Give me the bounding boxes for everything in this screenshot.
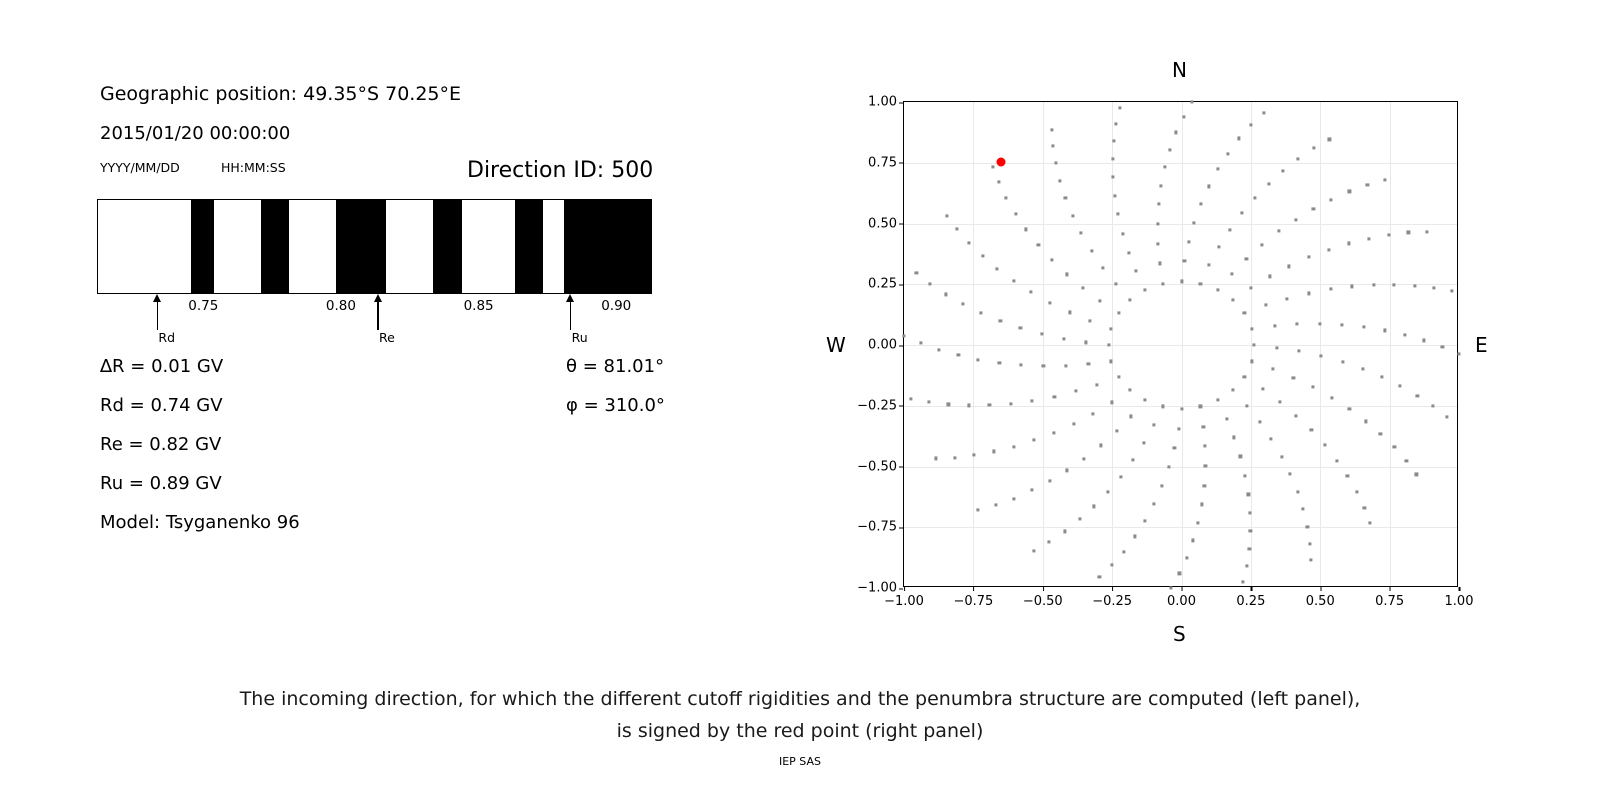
- direction-point: [1258, 421, 1261, 424]
- direction-point: [1350, 285, 1353, 288]
- direction-point: [1308, 256, 1311, 259]
- direction-point: [903, 334, 906, 337]
- direction-point: [1276, 346, 1279, 349]
- direction-point: [1080, 232, 1083, 235]
- direction-point: [1111, 157, 1114, 160]
- direction-point: [1261, 243, 1264, 246]
- direction-point: [1128, 388, 1131, 391]
- direction-point: [967, 404, 970, 407]
- direction-point: [1204, 445, 1207, 448]
- direction-point: [1273, 324, 1276, 327]
- direction-point: [1249, 123, 1252, 126]
- direction-point: [967, 241, 970, 244]
- sky-map-panel: 1.000.750.500.250.00−0.25−0.50−0.75−1.00…: [800, 0, 1600, 660]
- footer-credit: IEP SAS: [0, 755, 1600, 768]
- direction-point: [1187, 240, 1190, 243]
- direction-point: [1311, 386, 1314, 389]
- direction-point: [1379, 432, 1382, 435]
- direction-point: [1253, 343, 1256, 346]
- direction-point: [1163, 165, 1166, 168]
- direction-point: [1009, 402, 1012, 405]
- direction-point: [1081, 286, 1084, 289]
- direction-point: [1135, 270, 1138, 273]
- delta-r-readout: ∆R = 0.01 GV: [100, 356, 223, 377]
- direction-point: [947, 403, 950, 406]
- date-format-hint: YYYY/MM/DD: [100, 160, 180, 175]
- direction-point: [1285, 297, 1288, 300]
- direction-point: [998, 361, 1001, 364]
- direction-point: [919, 342, 922, 345]
- direction-point: [1107, 490, 1110, 493]
- direction-point: [1048, 301, 1051, 304]
- direction-point: [1231, 388, 1234, 391]
- direction-point: [1204, 464, 1207, 467]
- direction-point: [957, 354, 960, 357]
- rigidity-marker-label: Rd: [147, 330, 187, 345]
- x-tick-label: 0.00: [1167, 594, 1196, 609]
- direction-point: [1363, 506, 1366, 509]
- direction-point: [1071, 214, 1074, 217]
- direction-point: [1335, 459, 1338, 462]
- direction-point: [1270, 438, 1273, 441]
- direction-point: [1307, 292, 1310, 295]
- y-tick-label: 1.00: [868, 95, 897, 110]
- direction-point: [1241, 580, 1244, 583]
- geographic-position-label: Geographic position: 49.35°S 70.25°E: [100, 83, 461, 105]
- direction-point: [1217, 245, 1220, 248]
- direction-point: [1042, 364, 1045, 367]
- direction-point: [1032, 549, 1035, 552]
- direction-point: [1053, 395, 1056, 398]
- direction-point: [1130, 415, 1133, 418]
- direction-point: [1110, 564, 1113, 567]
- direction-point: [1040, 332, 1043, 335]
- direction-point: [1253, 196, 1256, 199]
- x-tick-label: −1.00: [884, 594, 924, 609]
- direction-point: [1019, 326, 1022, 329]
- direction-point: [934, 457, 937, 460]
- direction-point: [1178, 572, 1181, 575]
- direction-point: [1115, 430, 1118, 433]
- direction-point: [1175, 131, 1178, 134]
- direction-point: [1328, 138, 1331, 141]
- direction-point: [1327, 248, 1330, 251]
- direction-point: [1048, 540, 1051, 543]
- direction-point: [1005, 196, 1008, 199]
- direction-point: [1383, 329, 1386, 332]
- direction-point: [1030, 489, 1033, 492]
- direction-point: [999, 319, 1002, 322]
- direction-point: [1289, 472, 1292, 475]
- y-tick-label: −0.25: [857, 398, 897, 413]
- direction-point: [1381, 375, 1384, 378]
- x-tick-label: 1.00: [1445, 594, 1474, 609]
- direction-point: [1272, 368, 1275, 371]
- direction-point: [1159, 184, 1162, 187]
- direction-point: [1117, 312, 1120, 315]
- penumbra-band-forbidden: [191, 200, 214, 293]
- y-tick-label: 0.25: [868, 277, 897, 292]
- direction-point: [1153, 502, 1156, 505]
- direction-point: [1065, 273, 1068, 276]
- direction-point: [1296, 490, 1299, 493]
- direction-point: [1392, 283, 1395, 286]
- y-tick-label: 0.00: [868, 338, 897, 353]
- direction-point: [1113, 194, 1116, 197]
- penumbra-band-forbidden: [564, 200, 652, 293]
- direction-point: [1250, 360, 1253, 363]
- direction-point: [1261, 387, 1264, 390]
- direction-point: [992, 450, 995, 453]
- direction-point: [1239, 455, 1242, 458]
- compass-south-label: S: [1173, 622, 1186, 646]
- y-tick-label: 0.50: [868, 216, 897, 231]
- direction-point: [1012, 279, 1015, 282]
- direction-point: [1262, 111, 1265, 114]
- direction-point: [1082, 457, 1085, 460]
- direction-point: [1277, 230, 1280, 233]
- direction-point: [1441, 345, 1444, 348]
- direction-point: [1093, 505, 1096, 508]
- direction-point: [1393, 446, 1396, 449]
- direction-point: [1169, 586, 1172, 589]
- rigidity-axis: RdReRu0.750.800.850.90: [97, 294, 652, 354]
- arrow-head-icon: [566, 294, 574, 302]
- caption-line-2: is signed by the red point (right panel): [0, 715, 1600, 747]
- direction-point: [1249, 512, 1252, 515]
- penumbra-band-forbidden: [336, 200, 387, 293]
- direction-point: [1292, 376, 1295, 379]
- direction-point: [1319, 354, 1322, 357]
- direction-point: [1114, 122, 1117, 125]
- direction-point: [1405, 459, 1408, 462]
- x-tick-label: 0.75: [1375, 594, 1404, 609]
- direction-point: [1416, 394, 1419, 397]
- direction-point: [1246, 404, 1249, 407]
- direction-point: [1193, 221, 1196, 224]
- arrow-head-icon: [153, 294, 161, 302]
- direction-point: [981, 255, 984, 258]
- direction-point: [1033, 439, 1036, 442]
- direction-point: [1228, 228, 1231, 231]
- direction-point: [1250, 286, 1253, 289]
- direction-point: [1264, 304, 1267, 307]
- model-readout: Model: Tsyganenko 96: [100, 512, 300, 533]
- direction-point: [1112, 139, 1115, 142]
- direction-point: [1157, 203, 1160, 206]
- direction-point: [1199, 405, 1202, 408]
- direction-point: [1088, 319, 1091, 322]
- direction-point: [1161, 282, 1164, 285]
- direction-point: [1074, 390, 1077, 393]
- direction-point: [1031, 399, 1034, 402]
- direction-point: [1119, 475, 1122, 478]
- rigidity-tick-label: 0.85: [464, 298, 494, 314]
- direction-point: [1431, 404, 1434, 407]
- direction-point: [1450, 290, 1453, 293]
- direction-point: [1383, 178, 1386, 181]
- direction-point: [1247, 493, 1250, 496]
- direction-point: [1243, 312, 1246, 315]
- arrow-up-icon: [570, 300, 572, 330]
- y-tick-label: 0.75: [868, 155, 897, 170]
- direction-point: [1207, 263, 1210, 266]
- rigidity-marker-label: Re: [367, 330, 407, 345]
- direction-point: [1037, 243, 1040, 246]
- x-tick-label: 0.50: [1306, 594, 1335, 609]
- direction-point: [1117, 375, 1120, 378]
- direction-point: [1072, 422, 1075, 425]
- direction-point: [1173, 446, 1176, 449]
- direction-point: [1230, 272, 1233, 275]
- direction-point: [1197, 521, 1200, 524]
- direction-point: [1355, 490, 1358, 493]
- direction-point: [1323, 443, 1326, 446]
- direction-point: [1348, 190, 1351, 193]
- direction-point: [1191, 101, 1194, 104]
- compass-north-label: N: [1172, 58, 1187, 82]
- direction-point: [1014, 212, 1017, 215]
- penumbra-panel: Geographic position: 49.35°S 70.25°E 201…: [0, 0, 800, 660]
- direction-point: [1152, 424, 1155, 427]
- direction-point: [1318, 322, 1321, 325]
- direction-point: [1240, 211, 1243, 214]
- direction-point: [1084, 341, 1087, 344]
- direction-point: [944, 293, 947, 296]
- direction-point: [1250, 327, 1253, 330]
- direction-point: [1267, 182, 1270, 185]
- sky-plot-area[interactable]: 1.000.750.500.250.00−0.25−0.50−0.75−1.00…: [903, 101, 1458, 587]
- direction-point: [1058, 179, 1061, 182]
- direction-point: [1294, 218, 1297, 221]
- x-tick-label: −0.25: [1092, 594, 1132, 609]
- penumbra-spectrum-bar: [97, 199, 652, 294]
- y-tick-label: −0.50: [857, 459, 897, 474]
- direction-point: [1245, 565, 1248, 568]
- direction-point: [1297, 157, 1300, 160]
- direction-point: [909, 397, 912, 400]
- direction-point: [1099, 444, 1102, 447]
- direction-point: [1295, 323, 1298, 326]
- direction-point: [1407, 231, 1410, 234]
- direction-point: [1051, 145, 1054, 148]
- direction-point: [1132, 459, 1135, 462]
- direction-point: [1387, 233, 1390, 236]
- phi-readout: φ = 310.0°: [566, 395, 665, 416]
- compass-west-label: W: [826, 333, 846, 357]
- direction-point: [1199, 282, 1202, 285]
- direction-point: [1064, 364, 1067, 367]
- re-readout: Re = 0.82 GV: [100, 434, 221, 455]
- direction-point: [1161, 405, 1164, 408]
- direction-point: [1348, 408, 1351, 411]
- direction-point: [1231, 298, 1234, 301]
- direction-point: [972, 454, 975, 457]
- time-format-hint: HH:MM:SS: [221, 160, 286, 175]
- direction-point: [1341, 323, 1344, 326]
- direction-point: [1128, 298, 1131, 301]
- direction-point: [1121, 232, 1124, 235]
- direction-point: [1372, 283, 1375, 286]
- datetime-value: 2015/01/20 00:00:00: [100, 123, 290, 144]
- direction-point: [1012, 445, 1015, 448]
- direction-point: [1280, 455, 1283, 458]
- direction-point: [1368, 522, 1371, 525]
- direction-point: [953, 456, 956, 459]
- direction-point: [979, 311, 982, 314]
- direction-point: [1122, 550, 1125, 553]
- direction-point: [1048, 480, 1051, 483]
- direction-point: [929, 282, 932, 285]
- direction-point: [1156, 222, 1159, 225]
- direction-point: [1310, 429, 1313, 432]
- direction-point: [1331, 396, 1334, 399]
- theta-readout: θ = 81.01°: [566, 356, 664, 377]
- direction-point: [1183, 260, 1186, 263]
- direction-point: [1133, 535, 1136, 538]
- ru-readout: Ru = 0.89 GV: [100, 473, 222, 494]
- rigidity-marker-label: Ru: [560, 330, 600, 345]
- direction-point: [1098, 299, 1101, 302]
- direction-point: [1064, 197, 1067, 200]
- direction-point: [961, 303, 964, 306]
- direction-point: [1288, 265, 1291, 268]
- direction-point: [1268, 275, 1271, 278]
- direction-point: [1160, 485, 1163, 488]
- direction-point: [1143, 519, 1146, 522]
- direction-point: [1068, 311, 1071, 314]
- direction-point: [1180, 280, 1183, 283]
- direction-point: [1012, 497, 1015, 500]
- direction-point: [1413, 284, 1416, 287]
- direction-point: [1024, 228, 1027, 231]
- direction-point: [1110, 401, 1113, 404]
- direction-point: [1111, 175, 1114, 178]
- direction-point: [1050, 258, 1053, 261]
- arrow-head-icon: [374, 294, 382, 302]
- direction-point: [1102, 266, 1105, 269]
- direction-point: [996, 267, 999, 270]
- direction-point: [927, 401, 930, 404]
- direction-point: [1063, 530, 1066, 533]
- direction-point: [1329, 198, 1332, 201]
- direction-point: [997, 181, 1000, 184]
- direction-point: [915, 272, 918, 275]
- direction-point: [1341, 360, 1344, 363]
- direction-point: [1156, 242, 1159, 245]
- direction-point: [1180, 407, 1183, 410]
- direction-point: [1415, 473, 1418, 476]
- direction-point: [1062, 337, 1065, 340]
- direction-point: [1207, 185, 1210, 188]
- direction-point: [1114, 282, 1117, 285]
- x-tick-label: −0.50: [1023, 594, 1063, 609]
- direction-point: [1245, 257, 1248, 260]
- direction-point: [991, 165, 994, 168]
- direction-point: [1244, 474, 1247, 477]
- penumbra-band-forbidden: [515, 200, 543, 293]
- direction-point: [1294, 414, 1297, 417]
- arrow-up-icon: [157, 300, 159, 330]
- direction-point: [1167, 466, 1170, 469]
- direction-point: [1199, 202, 1202, 205]
- direction-point: [1243, 375, 1246, 378]
- direction-point: [945, 214, 948, 217]
- penumbra-band-forbidden: [433, 200, 462, 293]
- direction-point: [1054, 162, 1057, 165]
- direction-point: [1306, 525, 1309, 528]
- direction-point: [1098, 576, 1101, 579]
- direction-point: [1107, 343, 1110, 346]
- direction-point: [1329, 288, 1332, 291]
- direction-point: [1191, 539, 1194, 542]
- direction-point: [1361, 367, 1364, 370]
- direction-point: [1457, 353, 1460, 356]
- direction-point: [1216, 168, 1219, 171]
- direction-point: [1087, 363, 1090, 366]
- direction-point: [976, 509, 979, 512]
- direction-point: [1052, 431, 1055, 434]
- direction-point: [1398, 384, 1401, 387]
- direction-point: [1203, 484, 1206, 487]
- direction-point: [1308, 542, 1311, 545]
- direction-point: [1432, 286, 1435, 289]
- direction-point: [1346, 474, 1349, 477]
- direction-point: [1238, 137, 1241, 140]
- y-tick-label: −0.75: [857, 520, 897, 535]
- caption-line-1: The incoming direction, for which the di…: [0, 683, 1600, 715]
- rigidity-tick-label: 0.90: [601, 298, 631, 314]
- direction-point: [1278, 400, 1281, 403]
- rd-readout: Rd = 0.74 GV: [100, 395, 223, 416]
- direction-point: [1144, 399, 1147, 402]
- direction-point: [1116, 213, 1119, 216]
- direction-point: [1403, 333, 1406, 336]
- direction-point: [1348, 242, 1351, 245]
- direction-point: [1366, 183, 1369, 186]
- direction-point: [1143, 441, 1146, 444]
- direction-point: [1090, 249, 1093, 252]
- direction-point: [1281, 169, 1284, 172]
- selected-direction-point[interactable]: [997, 158, 1006, 167]
- direction-point: [1110, 360, 1113, 363]
- direction-point: [1309, 558, 1312, 561]
- direction-point: [1362, 326, 1365, 329]
- direction-point: [1233, 436, 1236, 439]
- rigidity-tick-label: 0.80: [326, 298, 356, 314]
- direction-point: [1096, 383, 1099, 386]
- arrow-up-icon: [377, 300, 379, 330]
- compass-east-label: E: [1475, 333, 1488, 357]
- direction-point: [1298, 350, 1301, 353]
- direction-point: [1029, 290, 1032, 293]
- direction-point: [1312, 207, 1315, 210]
- direction-id-label: Direction ID: 500: [467, 158, 653, 183]
- direction-point: [1092, 412, 1095, 415]
- direction-point: [1364, 420, 1367, 423]
- direction-point: [977, 358, 980, 361]
- direction-point: [1202, 425, 1205, 428]
- direction-point: [1216, 399, 1219, 402]
- direction-point: [1127, 251, 1130, 254]
- direction-point: [1066, 469, 1069, 472]
- direction-points-layer: [904, 102, 1457, 586]
- direction-point: [1249, 529, 1252, 532]
- direction-point: [1200, 503, 1203, 506]
- direction-point: [1216, 288, 1219, 291]
- direction-point: [1301, 508, 1304, 511]
- direction-point: [937, 348, 940, 351]
